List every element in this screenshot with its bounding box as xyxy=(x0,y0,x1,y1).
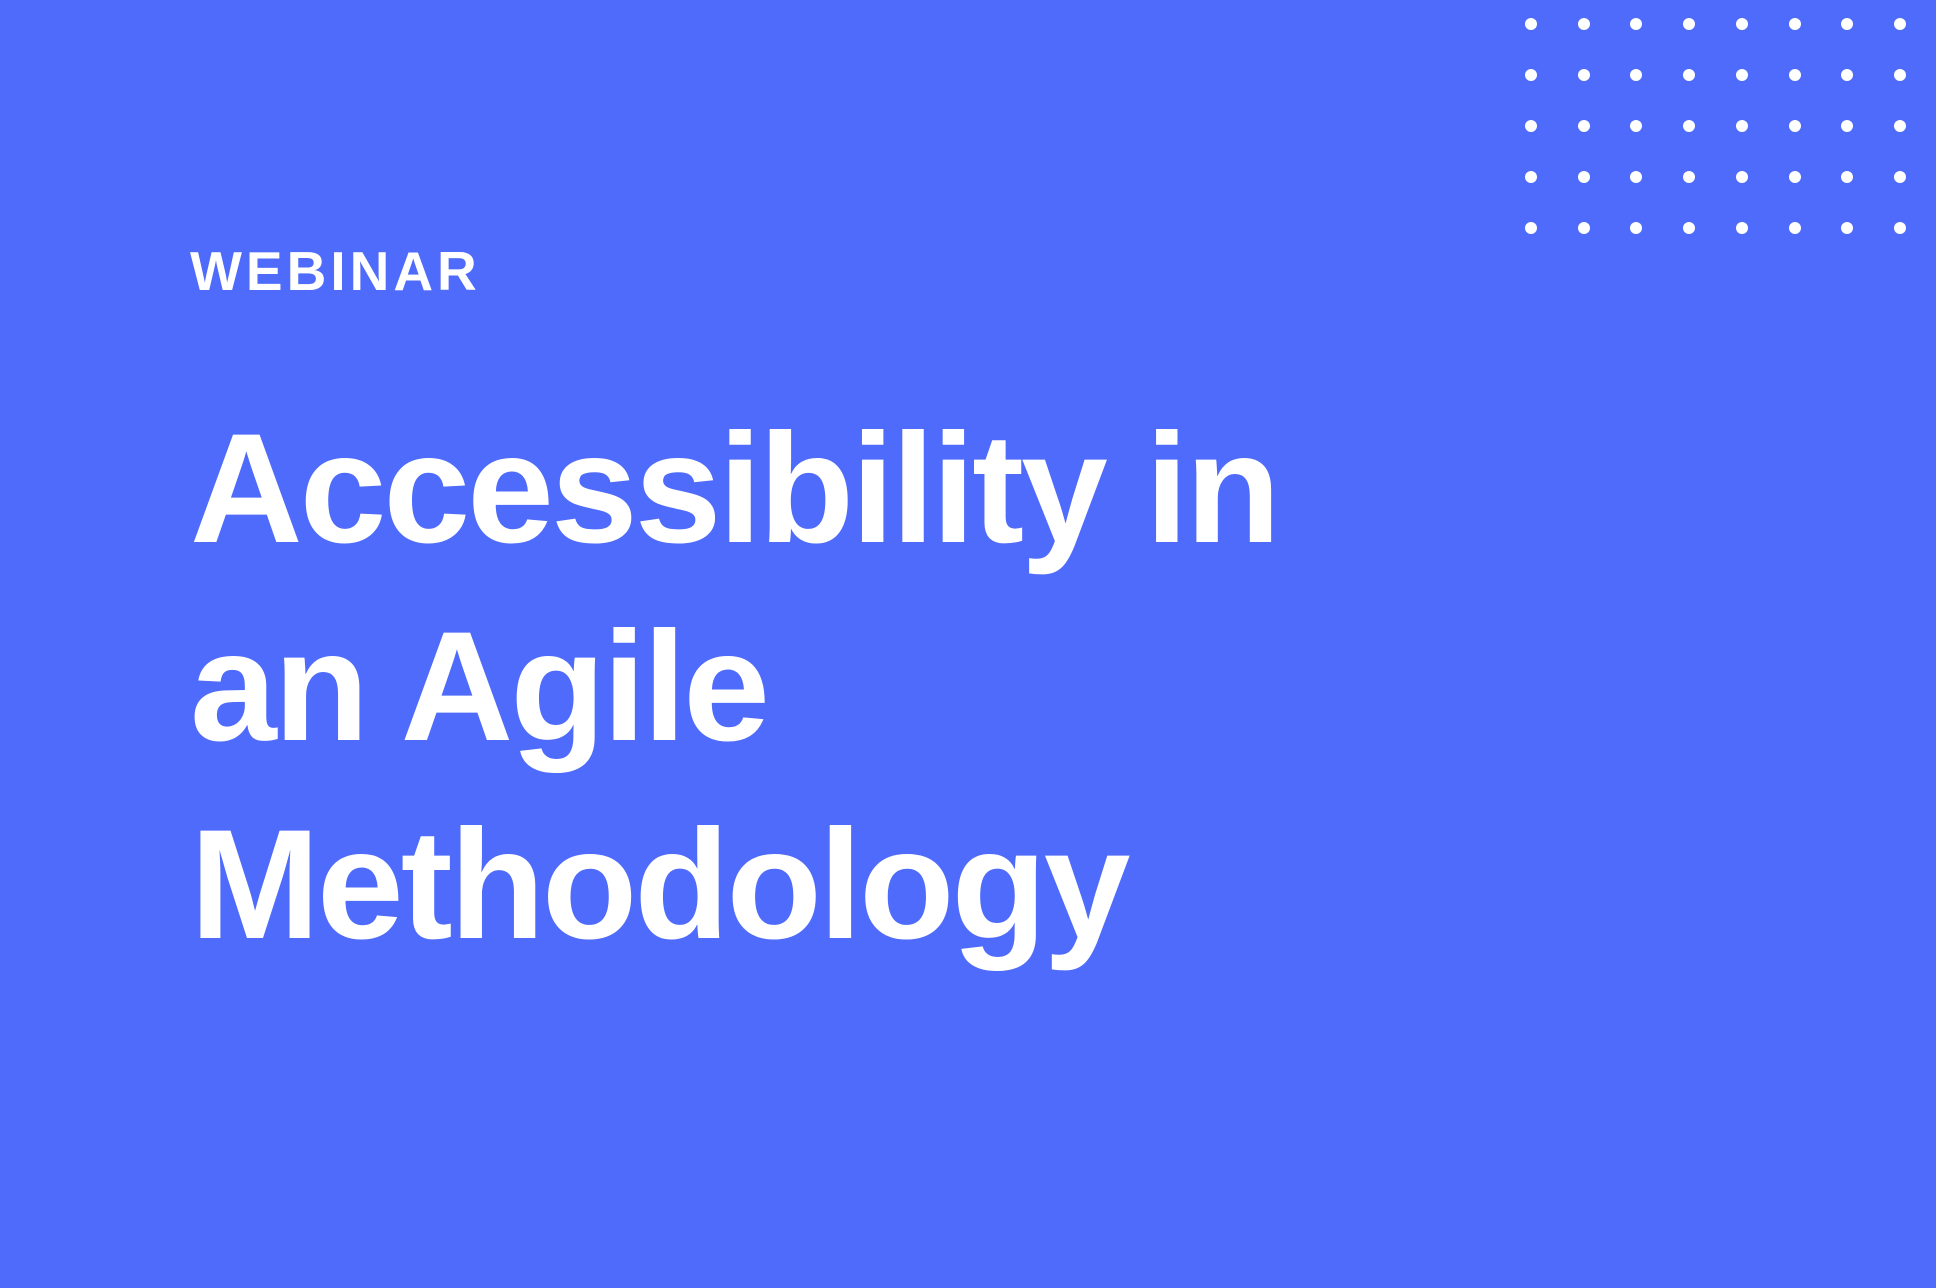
content-block: WEBINAR Accessibility in an Agile Method… xyxy=(190,0,1590,1288)
eyebrow-label: WEBINAR xyxy=(190,243,481,299)
headline-line-2: an Agile xyxy=(190,588,1530,786)
grid-dot xyxy=(1736,18,1748,30)
grid-dot xyxy=(1683,120,1695,132)
grid-dot xyxy=(1736,222,1748,234)
grid-dot xyxy=(1894,69,1906,81)
grid-dot xyxy=(1683,69,1695,81)
grid-dot xyxy=(1894,171,1906,183)
grid-dot xyxy=(1789,222,1801,234)
grid-dot xyxy=(1683,222,1695,234)
grid-dot xyxy=(1789,120,1801,132)
grid-dot xyxy=(1841,171,1853,183)
grid-dot xyxy=(1789,69,1801,81)
page-title: Accessibility in an Agile Methodology xyxy=(190,390,1530,984)
grid-dot xyxy=(1683,18,1695,30)
grid-dot xyxy=(1630,120,1642,132)
headline-line-1: Accessibility in xyxy=(190,390,1530,588)
grid-dot xyxy=(1630,18,1642,30)
grid-dot xyxy=(1630,171,1642,183)
grid-dot xyxy=(1630,222,1642,234)
grid-dot xyxy=(1841,69,1853,81)
grid-dot xyxy=(1789,18,1801,30)
grid-dot xyxy=(1894,120,1906,132)
grid-dot xyxy=(1736,69,1748,81)
grid-dot xyxy=(1841,222,1853,234)
webinar-promo-card: WEBINAR Accessibility in an Agile Method… xyxy=(0,0,1936,1288)
grid-dot xyxy=(1841,120,1853,132)
grid-dot xyxy=(1736,171,1748,183)
grid-dot xyxy=(1894,18,1906,30)
grid-dot xyxy=(1841,18,1853,30)
grid-dot xyxy=(1894,222,1906,234)
grid-dot xyxy=(1789,171,1801,183)
grid-dot xyxy=(1683,171,1695,183)
grid-dot xyxy=(1736,120,1748,132)
headline-line-3: Methodology xyxy=(190,786,1530,984)
grid-dot xyxy=(1630,69,1642,81)
